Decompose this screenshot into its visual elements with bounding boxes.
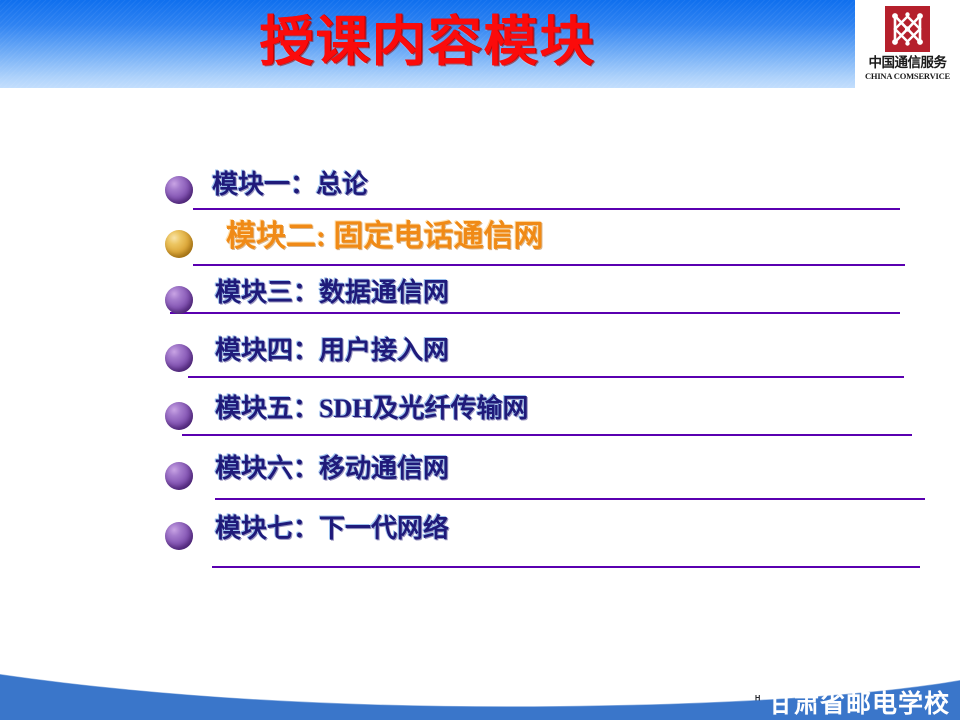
module-bullet-icon-4 [165,344,193,372]
module-list: 模块一：总论模块二: 固定电话通信网模块三：数据通信网模块四：用户接入网模块五：… [0,88,960,658]
module-label-4: 模块四：用户接入网 [215,338,449,364]
module-item-4[interactable]: 模块四：用户接入网 [0,332,960,388]
module-item-5[interactable]: 模块五：SDH及光纤传输网 [0,390,960,446]
module-underline-7 [212,566,920,568]
module-bullet-icon-3 [165,286,193,314]
module-label-6: 模块六：移动通信网 [215,456,449,482]
slide-header-band: 授课内容模块 [0,0,960,88]
module-underline-3 [170,312,900,314]
module-item-2[interactable]: 模块二: 固定电话通信网 [0,218,960,274]
module-label-7: 模块七：下一代网络 [215,516,449,542]
module-bullet-icon-2 [165,230,193,258]
brand-name-cn: 中国通信服务 [869,56,947,70]
module-underline-4 [188,376,904,378]
slide-footer: ᴴ 甘肃省邮电学校 [0,640,960,720]
slide-canvas: 授课内容模块 [0,0,960,720]
footer-school-name: 甘肃省邮电学校 [768,691,950,719]
module-label-5: 模块五：SDH及光纤传输网 [215,396,528,422]
module-bullet-icon-6 [165,462,193,490]
brand-name-en: CHINA COMSERVICE [865,72,950,81]
module-item-7[interactable]: 模块七：下一代网络 [0,510,960,566]
module-item-3[interactable]: 模块三：数据通信网 [0,274,960,330]
module-bullet-icon-7 [165,522,193,550]
module-underline-5 [182,434,912,436]
module-label-2: 模块二: 固定电话通信网 [226,222,544,252]
module-item-1[interactable]: 模块一：总论 [0,164,960,220]
module-item-6[interactable]: 模块六：移动通信网 [0,450,960,506]
footer-corner-mark: ᴴ [755,695,760,706]
module-label-3: 模块三：数据通信网 [215,280,449,306]
module-bullet-icon-1 [165,176,193,204]
china-comservice-diamond-mark-icon [885,6,930,52]
module-underline-1 [193,208,900,210]
module-underline-2 [193,264,905,266]
brand-logo: 中国通信服务 CHINA COMSERVICE [855,0,960,90]
page-title: 授课内容模块 [0,0,855,88]
module-underline-6 [215,498,925,500]
module-label-1: 模块一：总论 [212,172,368,198]
module-bullet-icon-5 [165,402,193,430]
